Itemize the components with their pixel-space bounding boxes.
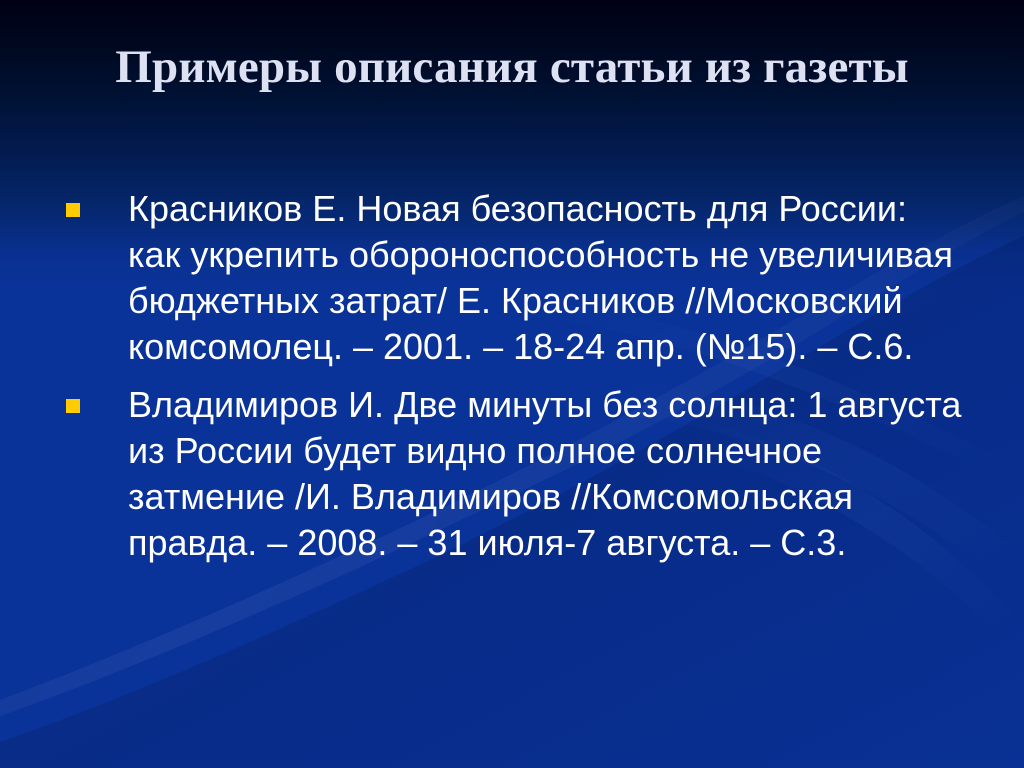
slide-body-list: Красников Е. Новая безопасность для Росс… bbox=[0, 186, 1024, 578]
slide-content: Примеры описания статьи из газеты Красни… bbox=[0, 0, 1024, 768]
page-title: Примеры описания статьи из газеты bbox=[62, 36, 962, 99]
list-item-text: Красников Е. Новая безопасность для Росс… bbox=[128, 186, 968, 370]
list-item: Красников Е. Новая безопасность для Росс… bbox=[0, 186, 1024, 370]
slide-title-block: Примеры описания статьи из газеты bbox=[62, 36, 962, 99]
square-bullet-icon bbox=[66, 399, 80, 413]
presentation-slide: Примеры описания статьи из газеты Красни… bbox=[0, 0, 1024, 768]
list-item-text: Владимиров И. Две минуты без солнца: 1 а… bbox=[128, 382, 968, 566]
list-item: Владимиров И. Две минуты без солнца: 1 а… bbox=[0, 382, 1024, 566]
square-bullet-icon bbox=[66, 203, 80, 217]
